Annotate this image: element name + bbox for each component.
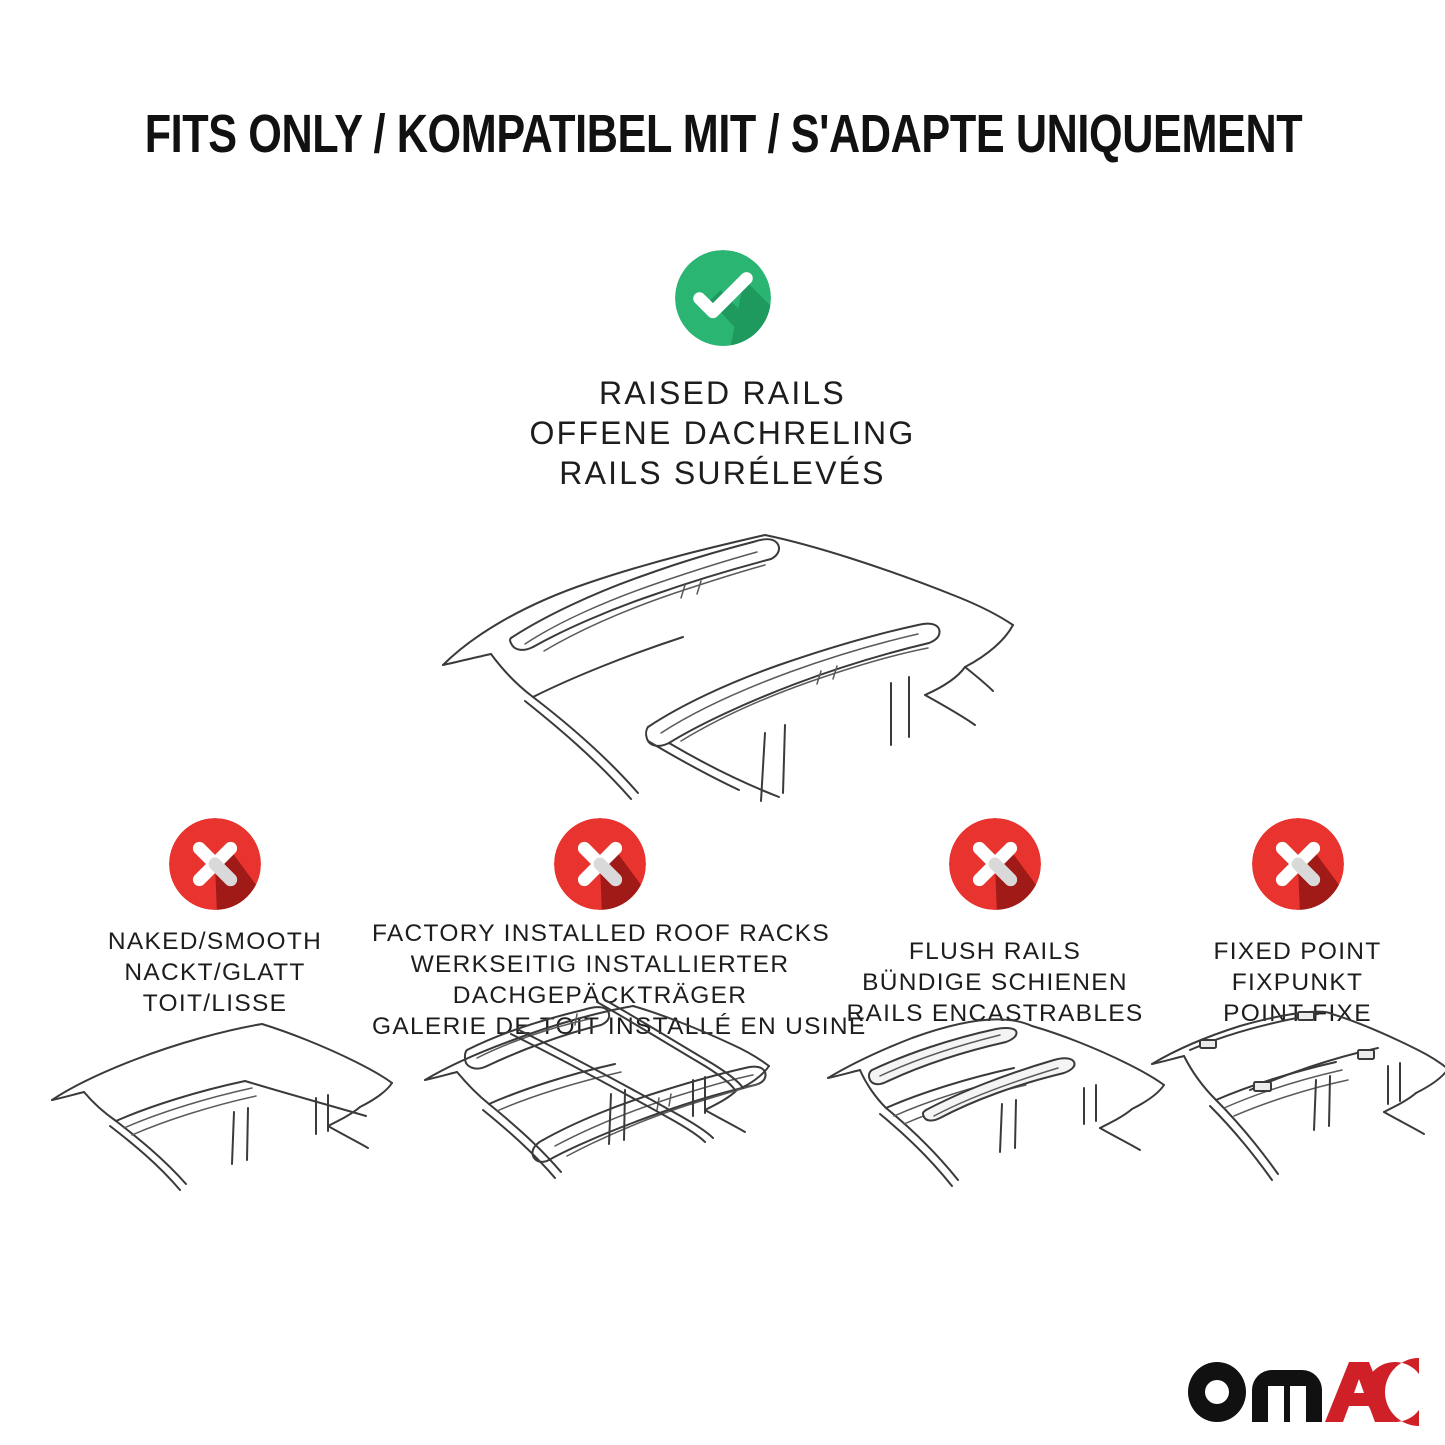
label-line-en: FACTORY INSTALLED ROOF RACKS: [372, 918, 828, 949]
not-fits-item-fixed-point: FIXED POINT FIXPUNKT POINT FIXE: [1150, 818, 1445, 1029]
badge-wrap: [822, 818, 1168, 922]
label-line-de: FIXPUNKT: [1150, 967, 1445, 998]
x-circle-icon: [169, 818, 261, 910]
label-line-en: NAKED/SMOOTH: [40, 926, 390, 957]
label-line-de: NACKT/GLATT: [40, 957, 390, 988]
fits-label-fr: RAILS SURÉLEVÉS: [0, 453, 1445, 493]
fits-label-en: RAISED RAILS: [0, 373, 1445, 413]
car-roof-raised-rails-illustration: [413, 505, 1033, 805]
label-line-de-1: WERKSEITIG INSTALLIERTER: [372, 949, 828, 980]
x-circle-icon: [554, 818, 646, 910]
label-line-en: FIXED POINT: [1150, 936, 1445, 967]
check-circle-icon: [675, 250, 771, 346]
not-fits-item-flush-rails: FLUSH RAILS BÜNDIGE SCHIENEN RAILS ENCAS…: [822, 818, 1168, 1029]
badge-wrap: [1150, 818, 1445, 922]
fits-labels: RAISED RAILS OFFENE DACHRELING RAILS SUR…: [0, 373, 1445, 493]
page-title: FITS ONLY / KOMPATIBEL MIT / S'ADAPTE UN…: [0, 104, 1445, 164]
not-compatible-section: NAKED/SMOOTH NACKT/GLATT TOIT/LISSE: [0, 818, 1445, 1218]
not-fits-item-factory-racks: FACTORY INSTALLED ROOF RACKS WERKSEITIG …: [372, 818, 828, 1042]
logo-letter-m: [1252, 1370, 1322, 1422]
logo-letter-o: [1188, 1362, 1246, 1422]
label-line-de: BÜNDIGE SCHIENEN: [822, 967, 1168, 998]
badge-wrap: [372, 818, 828, 922]
badge-wrap: [40, 818, 390, 922]
page-title-text: FITS ONLY / KOMPATIBEL MIT / S'ADAPTE UN…: [145, 104, 1303, 164]
car-roof-naked-smooth-illustration: [30, 1004, 400, 1234]
car-roof-fixed-point-illustration: [1146, 1004, 1445, 1234]
not-fits-item-naked-smooth: NAKED/SMOOTH NACKT/GLATT TOIT/LISSE: [40, 818, 390, 1019]
x-circle-icon: [949, 818, 1041, 910]
label-line-en: FLUSH RAILS: [822, 936, 1168, 967]
fits-section: RAISED RAILS OFFENE DACHRELING RAILS SUR…: [0, 250, 1445, 493]
car-roof-factory-racks-illustration: [415, 994, 785, 1224]
car-roof-flush-rails-illustration: [810, 1004, 1180, 1234]
fits-label-de: OFFENE DACHRELING: [0, 413, 1445, 453]
x-circle-icon: [1252, 818, 1344, 910]
omac-logo: [1186, 1356, 1421, 1428]
